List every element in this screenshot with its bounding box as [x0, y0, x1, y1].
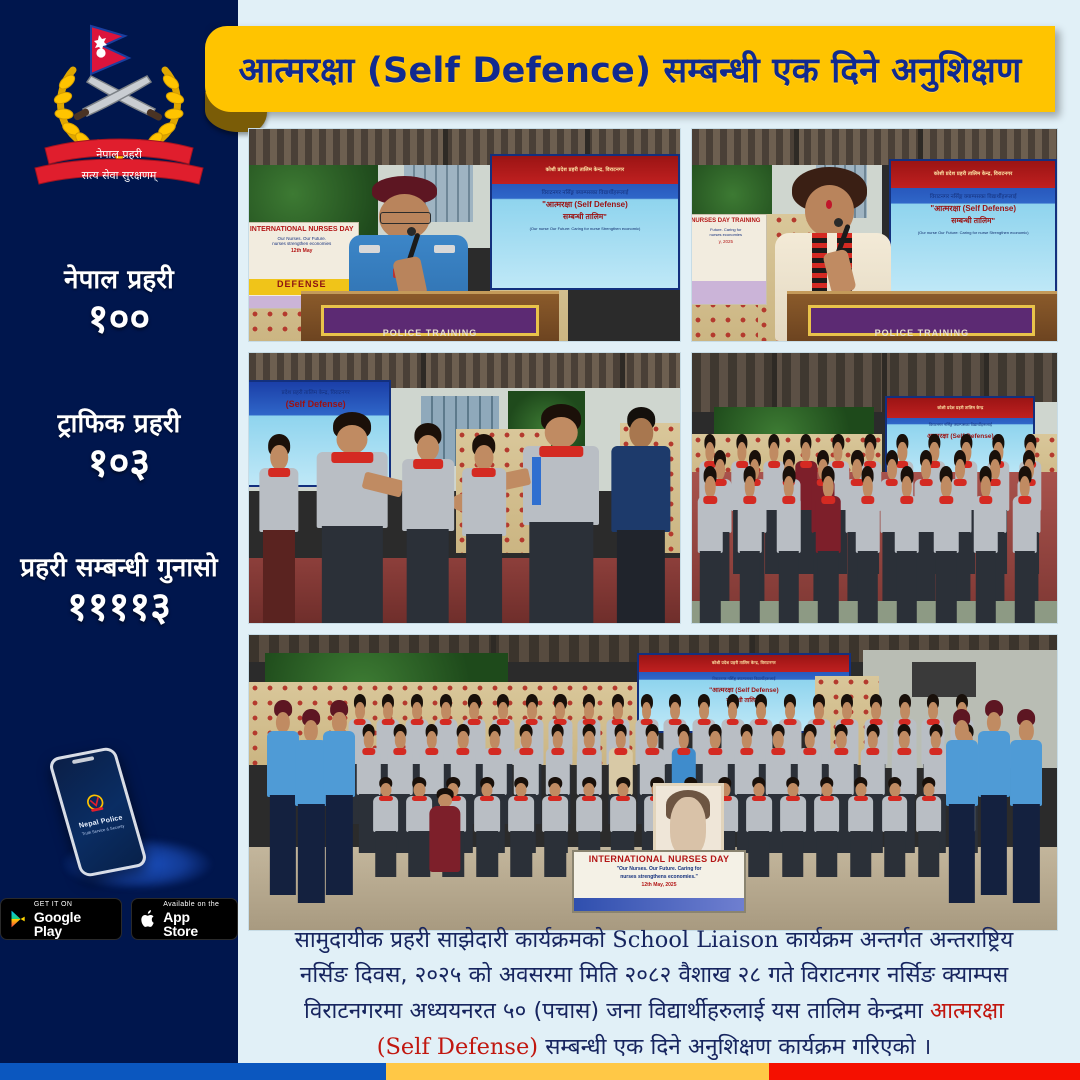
caption-4-highlight-en: (Self Defense) [377, 1034, 538, 1060]
person-figure [913, 777, 944, 877]
nurses-banner-line1: "Our Nurses. Our Future. Caring for [574, 866, 744, 872]
person-figure [743, 777, 774, 877]
person-figure [777, 777, 808, 877]
left-sidebar: नेपाल प्रहरी सत्य सेवा सुरक्षणम् नेपाल प… [0, 0, 238, 1063]
caption-3a: विराटनगरमा अध्ययनरत ५० (पचास) जना विद्या… [304, 998, 930, 1024]
photo1-podium-text: POLICE TRAINING [301, 328, 560, 338]
person-figure [845, 777, 876, 877]
photo-paired-practice: प्रदेश प्रहरी तालिम केन्द्र, विराटनगर (S… [248, 352, 681, 624]
caption-block: सामुदायीक प्रहरी साझेदारी कार्यक्रमको Sc… [248, 930, 1060, 1058]
photo-grid: INTERNATIONAL NURSES DAY Our Nurses. Our… [248, 128, 1058, 931]
person-figure [540, 777, 571, 877]
photo2-banner-l1: विराटनगर नर्सिङ्ग क्याम्पसका विद्यार्थीह… [891, 192, 1055, 200]
caption-1a: सामुदायीक प्रहरी साझेदारी कार्यक्रमको [295, 927, 613, 953]
photo3-banner-l1: प्रदेश प्रहरी तालिम केन्द्र, विराटनगर [248, 388, 389, 396]
nurses-banner-line2: nurses strengthens economies." [574, 874, 744, 880]
caption-4b: सम्बन्धी एक दिने अनुशिक्षण कार्यक्रम गरि… [538, 1034, 931, 1060]
hotline-number: ११११३ [0, 584, 238, 630]
photo-officer-speech: INTERNATIONAL NURSES DAY Our Nurses. Our… [248, 128, 681, 342]
photo2-banner-l4: (Our nurse Our Future: Caring for nurse … [891, 230, 1055, 235]
hotline-nepal-police: नेपाल प्रहरी १०० [0, 260, 238, 342]
photo-group-portrait: कोशी प्रदेश प्रहरी तालिम केन्द्र, विराटन… [248, 634, 1058, 931]
hotline-number: १०३ [0, 440, 238, 486]
person-figure [370, 777, 401, 877]
hotline-police-complaint: प्रहरी सम्बन्धी गुनासो ११११३ [0, 548, 238, 630]
footer-color-strip [0, 1063, 1080, 1080]
person-figure [853, 466, 882, 623]
person-figure [971, 466, 1000, 623]
title-ribbon: आत्मरक्षा (Self Defence) सम्बन्धी एक दिन… [205, 26, 1055, 112]
phone-notch [72, 756, 95, 764]
photo1-banner-l3: सम्बन्धी तालिम" [492, 212, 677, 222]
strip-yellow [386, 1063, 769, 1080]
person-figure [735, 466, 764, 623]
police-officer-figure [1009, 709, 1045, 904]
photo-group-drill: कोशी प्रदेश प्रहरी तालिम केन्द्र विराटनग… [691, 352, 1058, 624]
caption-3-highlight: आत्मरक्षा [930, 998, 1004, 1024]
police-officer-figure [944, 709, 980, 904]
poster-root: नेपाल प्रहरी सत्य सेवा सुरक्षणम् नेपाल प… [0, 0, 1080, 1080]
strip-blue [0, 1063, 386, 1080]
person-figure [892, 466, 921, 623]
app-store-badge[interactable]: Available on the App Store [131, 898, 238, 940]
person-figure [879, 777, 910, 877]
person-figure [696, 466, 725, 623]
photo1-side-banner: INTERNATIONAL NURSES DAY [248, 226, 358, 233]
photo2-banner-l3: सम्बन्धी तालिम" [891, 216, 1055, 226]
page-title: आत्मरक्षा (Self Defence) सम्बन्धी एक दिन… [238, 46, 1021, 93]
apple-icon [141, 910, 156, 928]
khukuri-icon [73, 76, 163, 122]
hotline-traffic-police: ट्राफिक प्रहरी १०३ [0, 404, 238, 486]
person-figure [506, 777, 537, 877]
photo1-banner-l1: विराटनगर नर्सिङ्ग क्याम्पसका विद्यार्थीह… [492, 188, 677, 196]
person-figure [932, 466, 961, 623]
photo-woman-speech: NURSES DAY TRAINING Future. Caring for n… [691, 128, 1058, 342]
nepal-police-emblem: नेपाल प्रहरी सत्य सेवा सुरक्षणम् [29, 8, 209, 188]
emblem-ribbon-bottom-text: सत्य सेवा सुरक्षणम् [82, 169, 159, 182]
badge-big-label: App Store [163, 910, 228, 938]
police-officer-figure [976, 700, 1012, 895]
photo3-banner-l2: (Self Defense) [248, 399, 389, 409]
person-figure [814, 466, 843, 623]
police-officer-figure [322, 700, 358, 895]
badge-big-label: Google Play [34, 910, 112, 938]
photo2-side-banner: NURSES DAY TRAINING [691, 218, 766, 224]
photo2-banner-l2: "आत्मरक्षा (Self Defense) [891, 203, 1055, 214]
hotline-label: प्रहरी सम्बन्धी गुनासो [0, 548, 238, 584]
nurses-banner-title: INTERNATIONAL NURSES DAY [574, 854, 744, 864]
app-emblem-icon [82, 790, 110, 815]
photo2-podium-text: POLICE TRAINING [787, 328, 1057, 338]
person-figure [1010, 466, 1039, 623]
photo2-banner-head: कोशी प्रदेश प्रहरी तालिम केन्द्र, विराटन… [934, 171, 1013, 177]
nurses-banner-date: 12th May, 2025 [574, 882, 744, 888]
google-play-badge[interactable]: GET IT ON Google Play [0, 898, 122, 940]
emblem-ribbon-top-text: नेपाल प्रहरी [96, 148, 142, 161]
google-play-icon [10, 910, 27, 928]
photo1-banner-l2: "आत्मरक्षा (Self Defense) [492, 199, 677, 210]
badge-small-label: Available on the [163, 901, 228, 908]
caption-line-1: सामुदायीक प्रहरी साझेदारी कार्यक्रमको Sc… [295, 923, 1014, 959]
person-figure [811, 777, 842, 877]
caption-line-2: नर्सिङ दिवस, २०२५ को अवसरमा मिति २०८२ वै… [300, 958, 1008, 994]
photo1-banner-l4: (Our nurse Our Future: Caring for nurse … [492, 226, 677, 231]
caption-1-en: School Liaison [612, 927, 778, 953]
photo1-banner-head: कोशी प्रदेश प्रहरी तालिम केन्द्र, विराटन… [546, 167, 625, 173]
app-store-badges: GET IT ON Google Play Available on the A… [0, 898, 238, 940]
person-figure-sari [427, 788, 463, 882]
person-figure [472, 777, 503, 877]
caption-1b: कार्यक्रम अन्तर्गत अन्तराष्ट्रिय [779, 927, 1014, 953]
hotline-number: १०० [0, 296, 238, 342]
hotline-label: ट्राफिक प्रहरी [0, 404, 238, 440]
caption-line-3: विराटनगरमा अध्ययनरत ५० (पचास) जना विद्या… [304, 994, 1004, 1030]
nurses-day-banner: INTERNATIONAL NURSES DAY "Our Nurses. Ou… [572, 850, 746, 913]
person-figure [774, 466, 803, 623]
strip-red [769, 1063, 1080, 1080]
badge-small-label: GET IT ON [34, 901, 112, 908]
hotline-label: नेपाल प्रहरी [0, 260, 238, 296]
caption-line-4: (Self Defense) सम्बन्धी एक दिने अनुशिक्ष… [377, 1030, 932, 1066]
